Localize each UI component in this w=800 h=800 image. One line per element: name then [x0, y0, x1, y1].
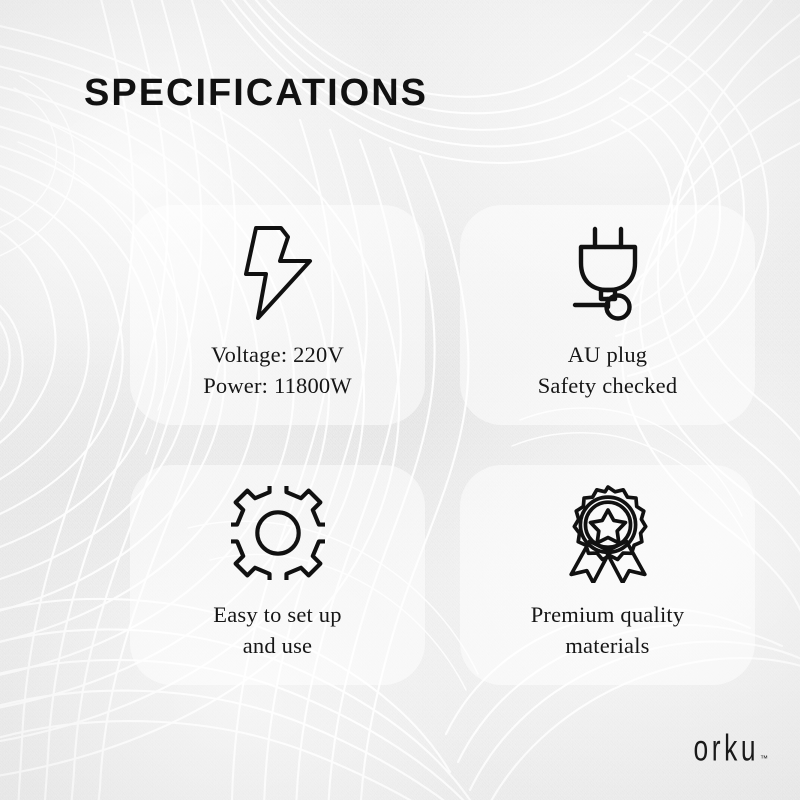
brand-logo-wordmark: orku: [693, 729, 759, 766]
page-title: SPECIFICATIONS: [84, 74, 428, 112]
brand-logo: orku ™: [677, 733, 768, 766]
trademark-symbol: ™: [760, 755, 768, 763]
specifications-poster: SPECIFICATIONS Voltage: 220V Power: 1180…: [0, 0, 800, 800]
specification-card-grid: Voltage: 220V Power: 11800W: [130, 205, 755, 685]
gear-icon: [231, 481, 325, 585]
spec-card-premium-materials: Premium quality materials: [460, 465, 755, 685]
spec-card-easy-setup: Easy to set up and use: [130, 465, 425, 685]
spec-card-text: Easy to set up and use: [213, 599, 341, 661]
spec-card-text: AU plug Safety checked: [538, 339, 678, 401]
spec-card-voltage-power: Voltage: 220V Power: 11800W: [130, 205, 425, 425]
spec-card-au-plug: AU plug Safety checked: [460, 205, 755, 425]
spec-card-text: Premium quality materials: [531, 599, 685, 661]
power-plug-icon: [565, 221, 651, 325]
spec-card-text: Voltage: 220V Power: 11800W: [203, 339, 352, 401]
award-badge-icon: [562, 481, 654, 585]
lightning-bolt-icon: [240, 221, 316, 325]
